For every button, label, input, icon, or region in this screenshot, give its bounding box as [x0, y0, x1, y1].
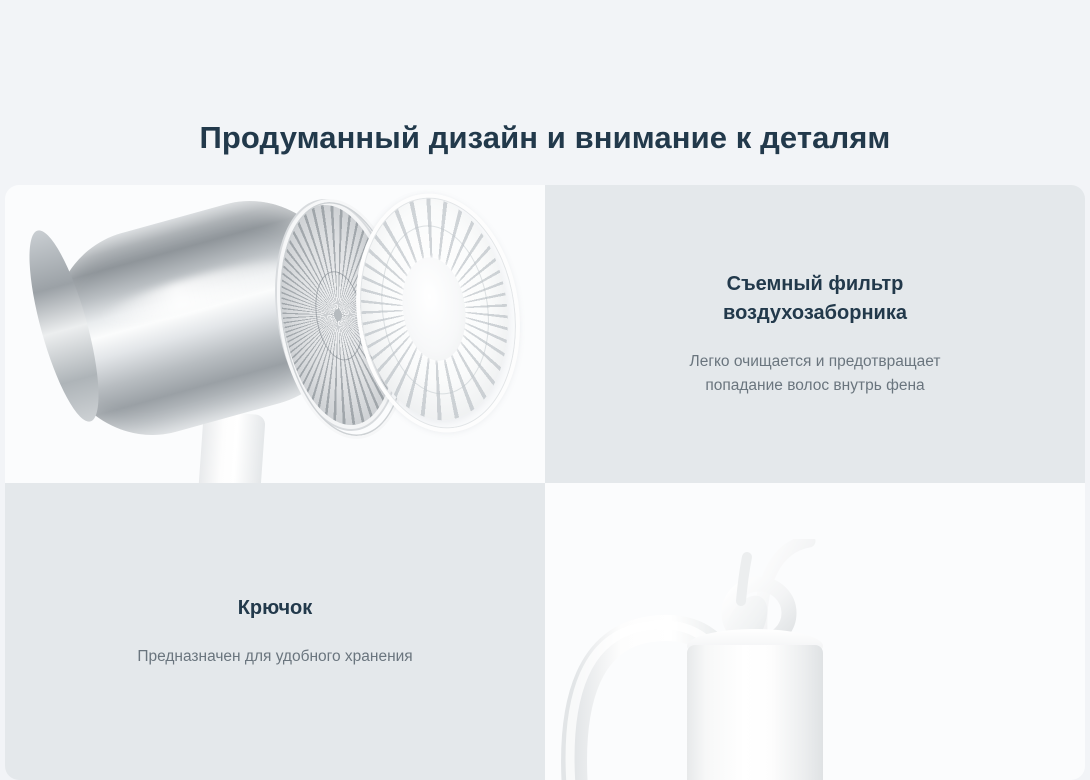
page-title: Продуманный дизайн и внимание к деталям	[0, 118, 1090, 158]
feature-row-hanging-hook: Крючок Предназначен для удобного хранени…	[5, 483, 1085, 780]
feature-row-air-intake-filter: Серебристый корпус фена со снятым фильтр…	[5, 185, 1085, 483]
hair-dryer-illustration	[5, 185, 545, 483]
hook-illustration	[545, 483, 1085, 780]
feature-copy-hanging-hook: Крючок Предназначен для удобного хранени…	[5, 483, 545, 780]
feature-body-hanging-hook: Предназначен для удобного хранения	[137, 645, 412, 669]
feature-heading-hanging-hook: Крючок	[238, 594, 313, 623]
handle-body-shape	[687, 645, 823, 780]
feature-section: Продуманный дизайн и внимание к деталям …	[0, 0, 1090, 780]
feature-grid: Серебристый корпус фена со снятым фильтр…	[5, 185, 1085, 780]
feature-body-air-intake-filter: Легко очищается и предотвращает попадани…	[650, 350, 980, 398]
feature-copy-air-intake-filter: Съемный фильтр воздухозаборника Легко оч…	[545, 185, 1085, 483]
feature-media-hanging-hook: Белая ручка фена с петлёй-крючком и кабе…	[545, 483, 1085, 780]
barrel-highlight	[97, 251, 296, 334]
feature-heading-air-intake-filter: Съемный фильтр воздухозаборника	[650, 270, 980, 328]
feature-media-air-intake-filter: Серебристый корпус фена со снятым фильтр…	[5, 185, 545, 483]
